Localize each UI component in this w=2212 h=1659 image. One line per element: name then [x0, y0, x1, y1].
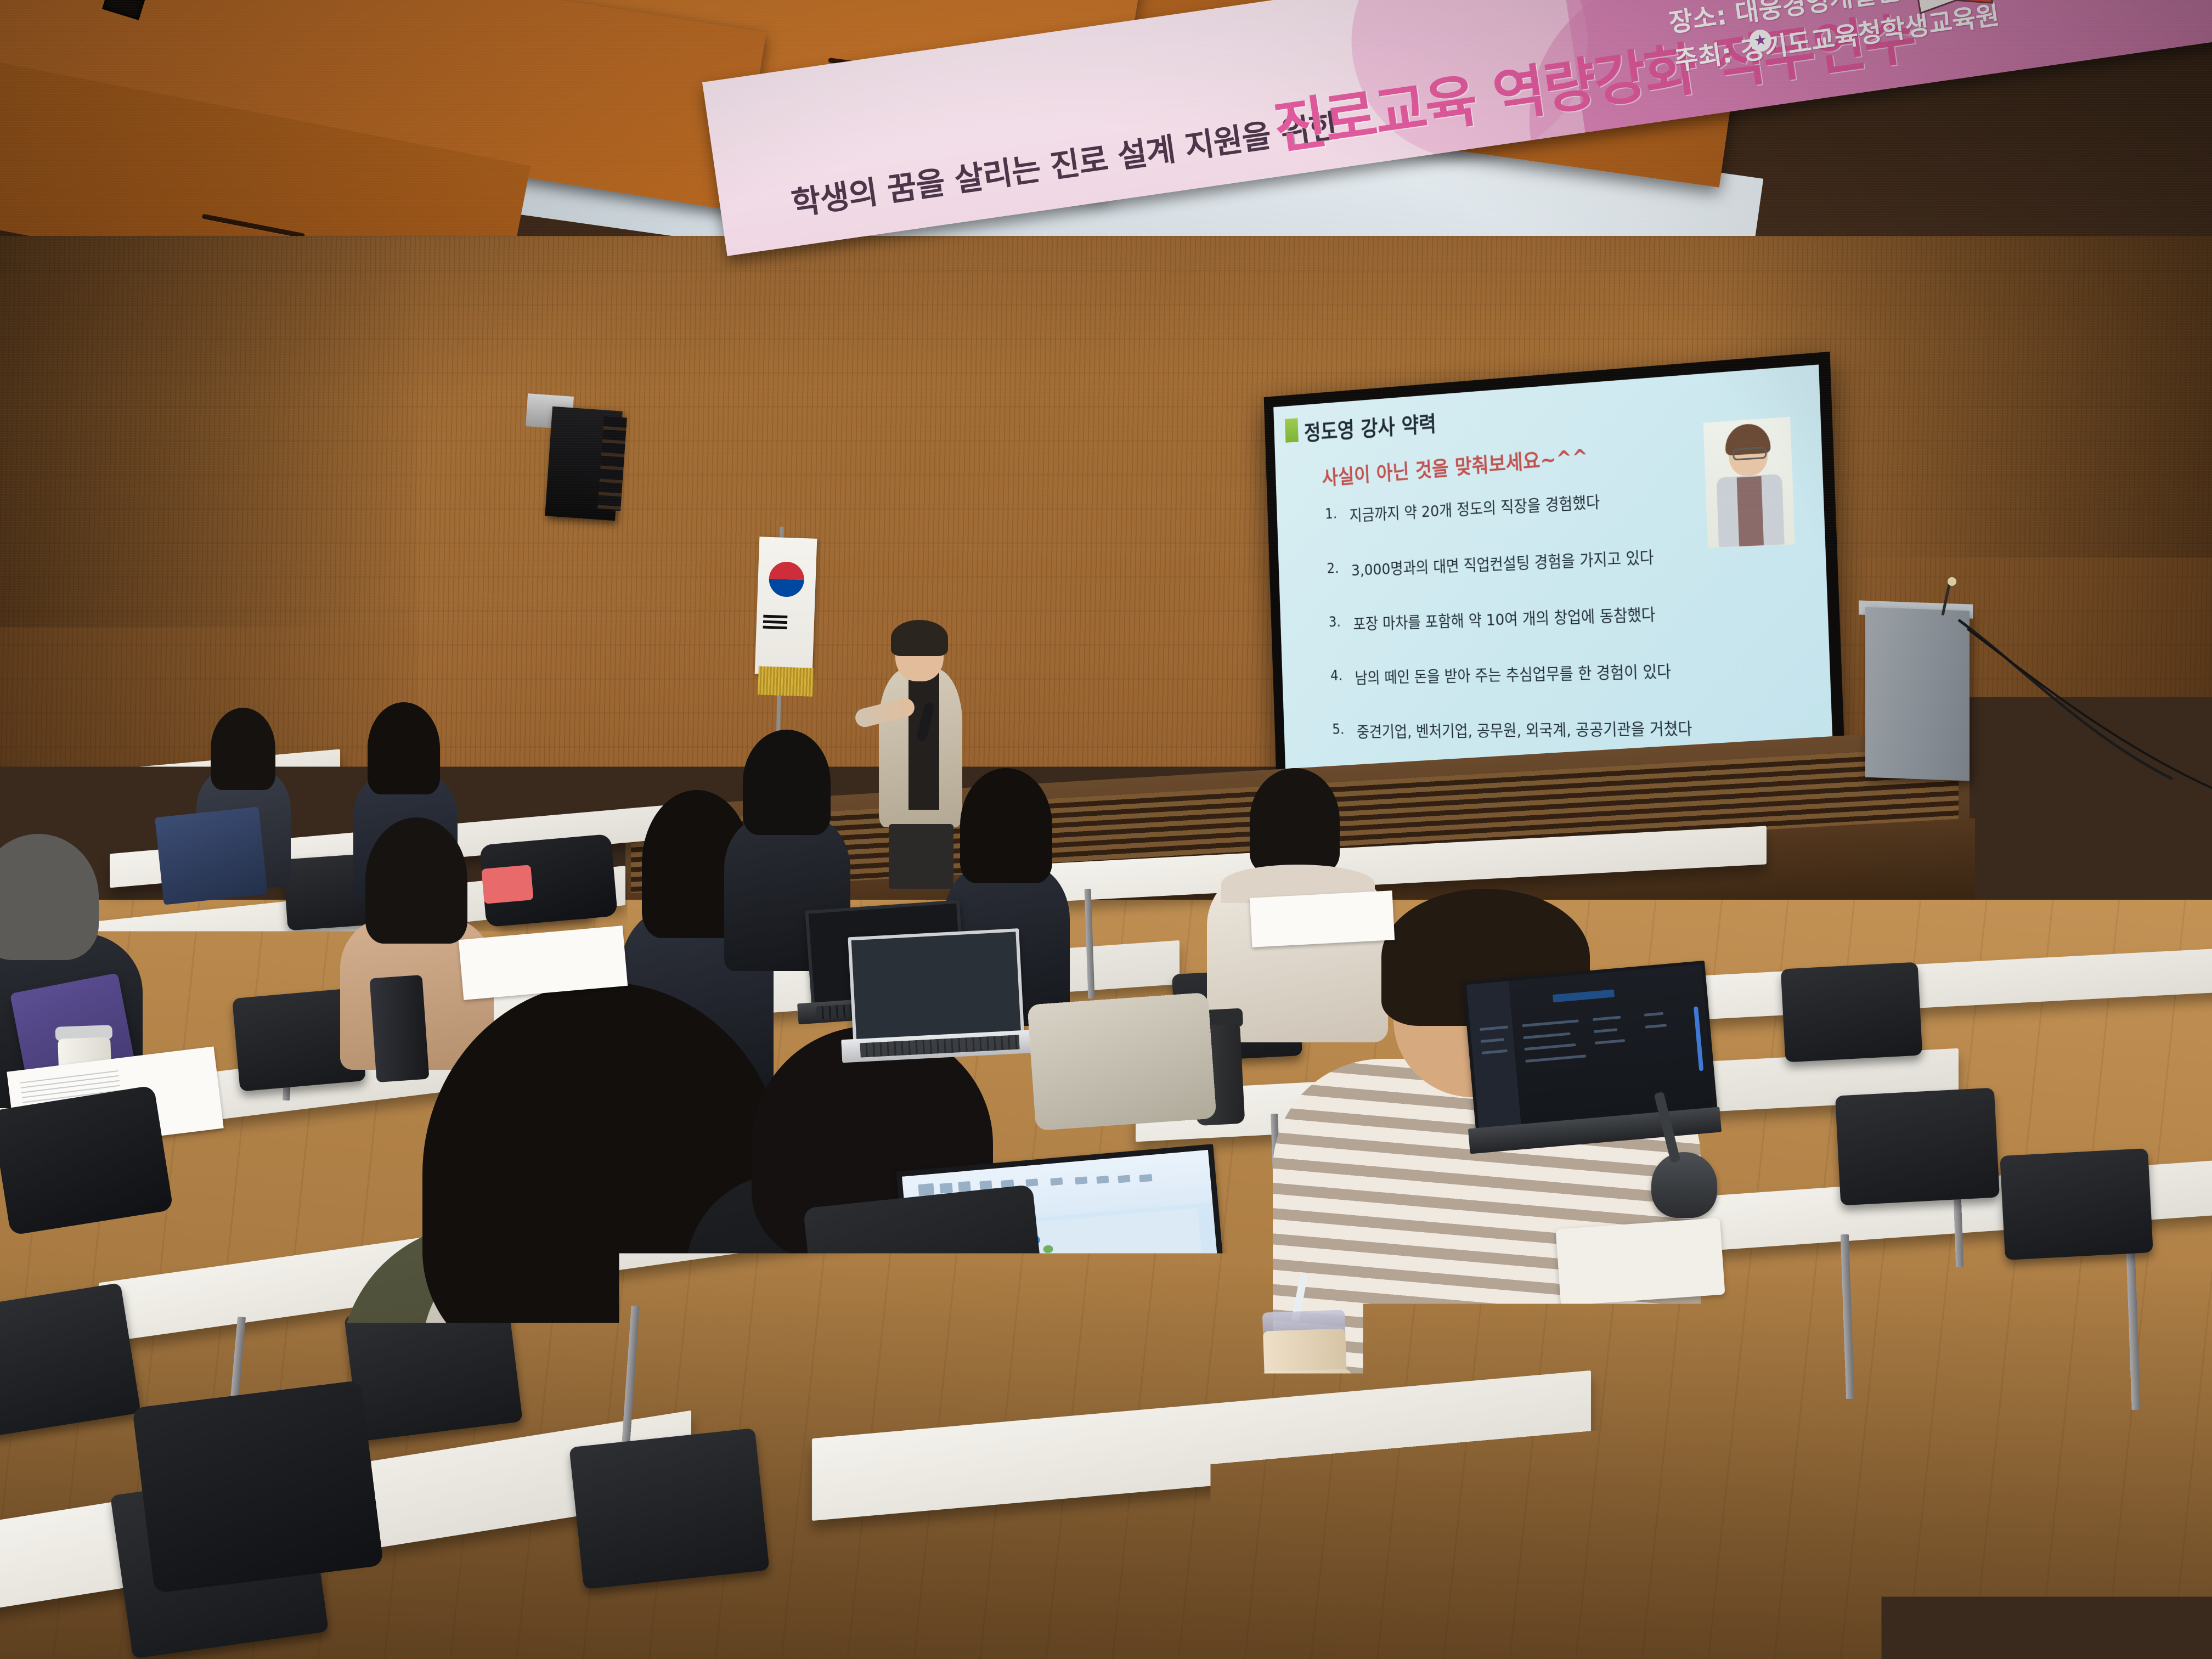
tumbler-beige[interactable]	[1259, 1304, 1352, 1482]
book-icon	[1908, 0, 1997, 19]
chair	[1781, 962, 1923, 1063]
projection-screen-frame: 정도영 강사 약력 사실이 아닌 것을 맞춰보세요~^^ 1. 지금까지 약 2…	[1264, 352, 1846, 785]
slide-item-text: 중견기업, 벤처기업, 공무원, 외국계, 공공기관을 거쳤다	[1356, 715, 1692, 742]
podium-cables	[1953, 614, 2212, 823]
file-browser-window[interactable]	[1466, 964, 1714, 1132]
tablet[interactable]	[155, 807, 268, 905]
slide-item-text: 남의 떼인 돈을 받아 주는 추심업무를 한 경험이 있다	[1355, 658, 1672, 688]
slide-item-text: 3,000명과의 대면 직업컨설팅 경험을 가지고 있다	[1351, 544, 1654, 580]
projection-screen: 정도영 강사 약력 사실이 아닌 것을 맞춰보세요~^^ 1. 지금까지 약 2…	[1273, 364, 1833, 773]
lecturer-portrait	[1703, 417, 1795, 549]
coat-on-chair	[803, 1184, 1051, 1389]
chair	[1835, 1088, 2000, 1206]
slide-item-number: 5.	[1332, 720, 1345, 737]
laptop-screen[interactable]	[848, 928, 1024, 1047]
desk-lamp-base[interactable]	[1651, 1152, 1717, 1218]
chair	[2000, 1148, 2153, 1260]
laptop-right[interactable]	[1463, 961, 1713, 1162]
slide-item-number: 2.	[1327, 560, 1339, 577]
tumbler-handle	[1261, 1369, 1352, 1404]
jacket	[1027, 992, 1216, 1131]
laptop-screen[interactable]	[1463, 961, 1718, 1136]
chair	[0, 1283, 141, 1438]
handout[interactable]	[1250, 890, 1395, 947]
slide-item-number: 1.	[1325, 505, 1338, 522]
mouse-pad[interactable]	[1555, 1218, 1725, 1306]
slide-subtitle: 사실이 아닌 것을 맞춰보세요~^^	[1322, 439, 1589, 491]
thermos-black[interactable]	[369, 975, 429, 1082]
slide-item-number: 4.	[1330, 667, 1343, 684]
microphone-head-icon	[1948, 577, 1956, 586]
slide-title: 정도영 강사 약력	[1304, 407, 1437, 447]
korean-flag-icon	[755, 537, 817, 676]
seminar-hall-photo: 학생의 꿈을 살리는 진로 설계 지원을 위한 진로교육 역량강화 직무연수 일…	[0, 0, 2212, 1659]
slide-item-number: 3.	[1328, 613, 1341, 630]
slide-item-text: 포장 마차를 포함해 약 10여 개의 창업에 동참했다	[1353, 601, 1656, 634]
backpack[interactable]	[132, 1380, 383, 1594]
laptop[interactable]	[836, 928, 1040, 1080]
slide-item-text: 지금까지 약 20개 정도의 직장을 경험했다	[1349, 489, 1600, 526]
slide-title-bullet-icon	[1285, 418, 1299, 443]
flag-fringe	[758, 666, 814, 696]
desk-item[interactable]	[481, 865, 533, 904]
